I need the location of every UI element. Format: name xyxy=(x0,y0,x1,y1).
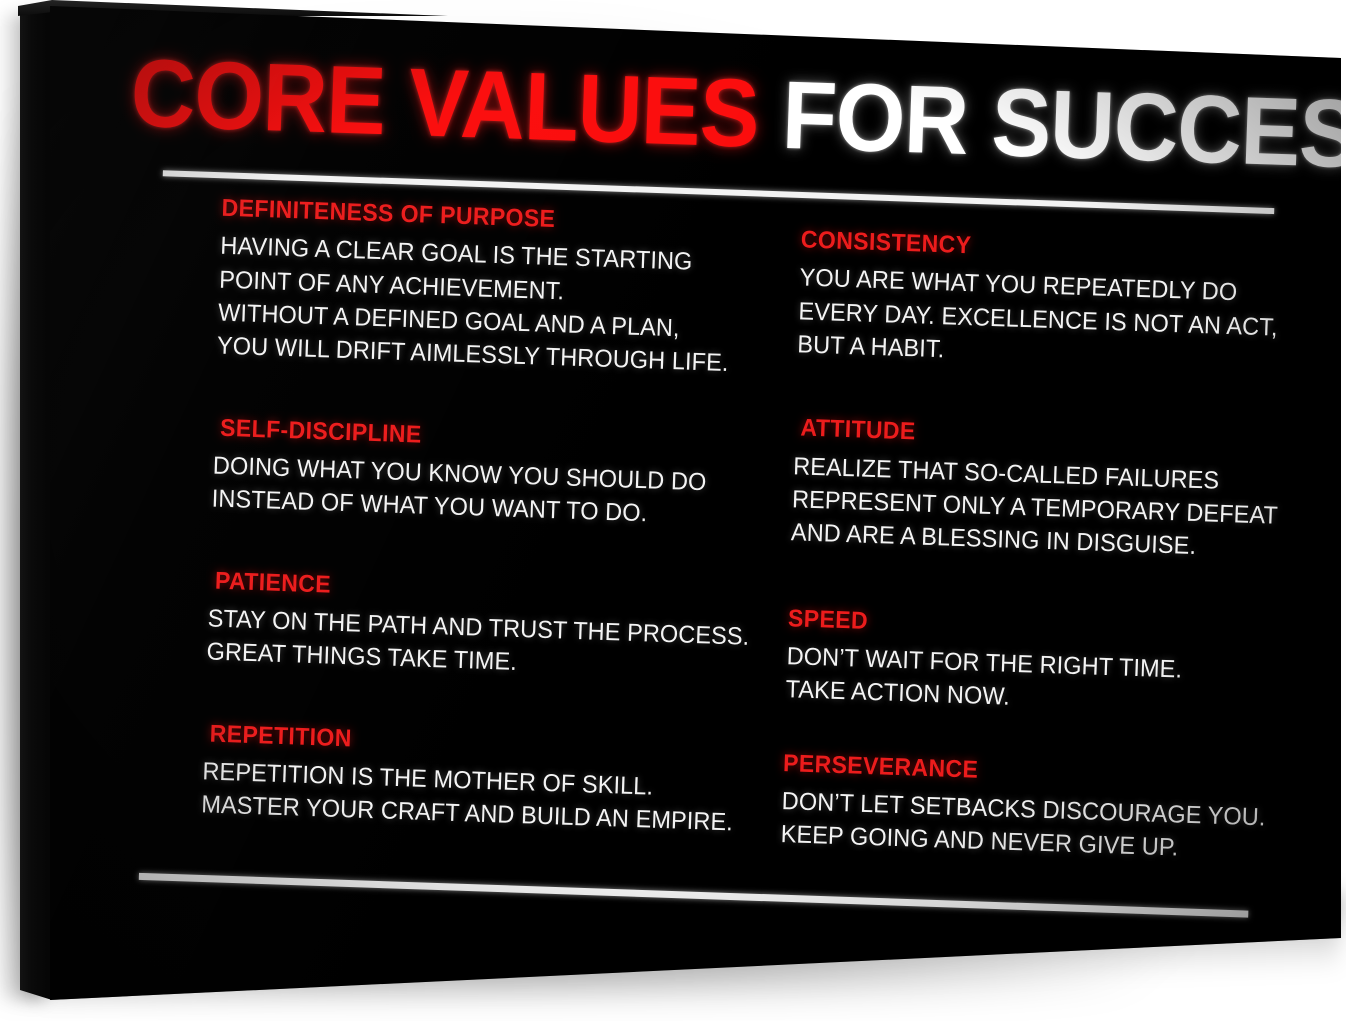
value-block-repetition: REPETITION REPETITION IS THE MOTHER OF S… xyxy=(201,721,704,839)
page-title: CORE VALUES FOR SUCCESS xyxy=(129,45,1307,181)
canvas-artwork-stage: CORE VALUES FOR SUCCESS DEFINITENESS OF … xyxy=(0,0,1346,1021)
values-column-left: DEFINITENESS OF PURPOSE HAVING A CLEAR G… xyxy=(201,195,722,838)
value-block-attitude: ATTITUDE REALIZE THAT SO-CALLED FAILURES… xyxy=(790,415,1224,564)
value-block-consistency: CONSISTENCY YOU ARE WHAT YOU REPEATEDLY … xyxy=(797,227,1231,376)
value-block-self-discipline: SELF-DISCIPLINE DOING WHAT YOU KNOW YOU … xyxy=(211,415,714,533)
poster-content: CORE VALUES FOR SUCCESS DEFINITENESS OF … xyxy=(0,0,1346,1021)
page-title-rest: FOR SUCCESS xyxy=(757,61,1346,191)
values-column-right: CONSISTENCY YOU ARE WHAT YOU REPEATEDLY … xyxy=(780,215,1231,866)
page-title-accent: CORE VALUES xyxy=(129,39,760,168)
value-title: SPEED xyxy=(788,605,1219,646)
value-block-patience: PATIENCE STAY ON THE PATH AND TRUST THE … xyxy=(206,568,709,686)
footer-divider-rule xyxy=(139,873,1249,918)
value-title: PERSEVERANCE xyxy=(783,750,1214,791)
value-title: ATTITUDE xyxy=(800,415,1225,456)
value-block-speed: SPEED DON’T WAIT FOR THE RIGHT TIME. TAK… xyxy=(785,606,1218,722)
value-block-definiteness-of-purpose: DEFINITENESS OF PURPOSE HAVING A CLEAR G… xyxy=(216,195,721,380)
value-block-perseverance: PERSEVERANCE DON’T LET SETBACKS DISCOURA… xyxy=(780,750,1213,866)
